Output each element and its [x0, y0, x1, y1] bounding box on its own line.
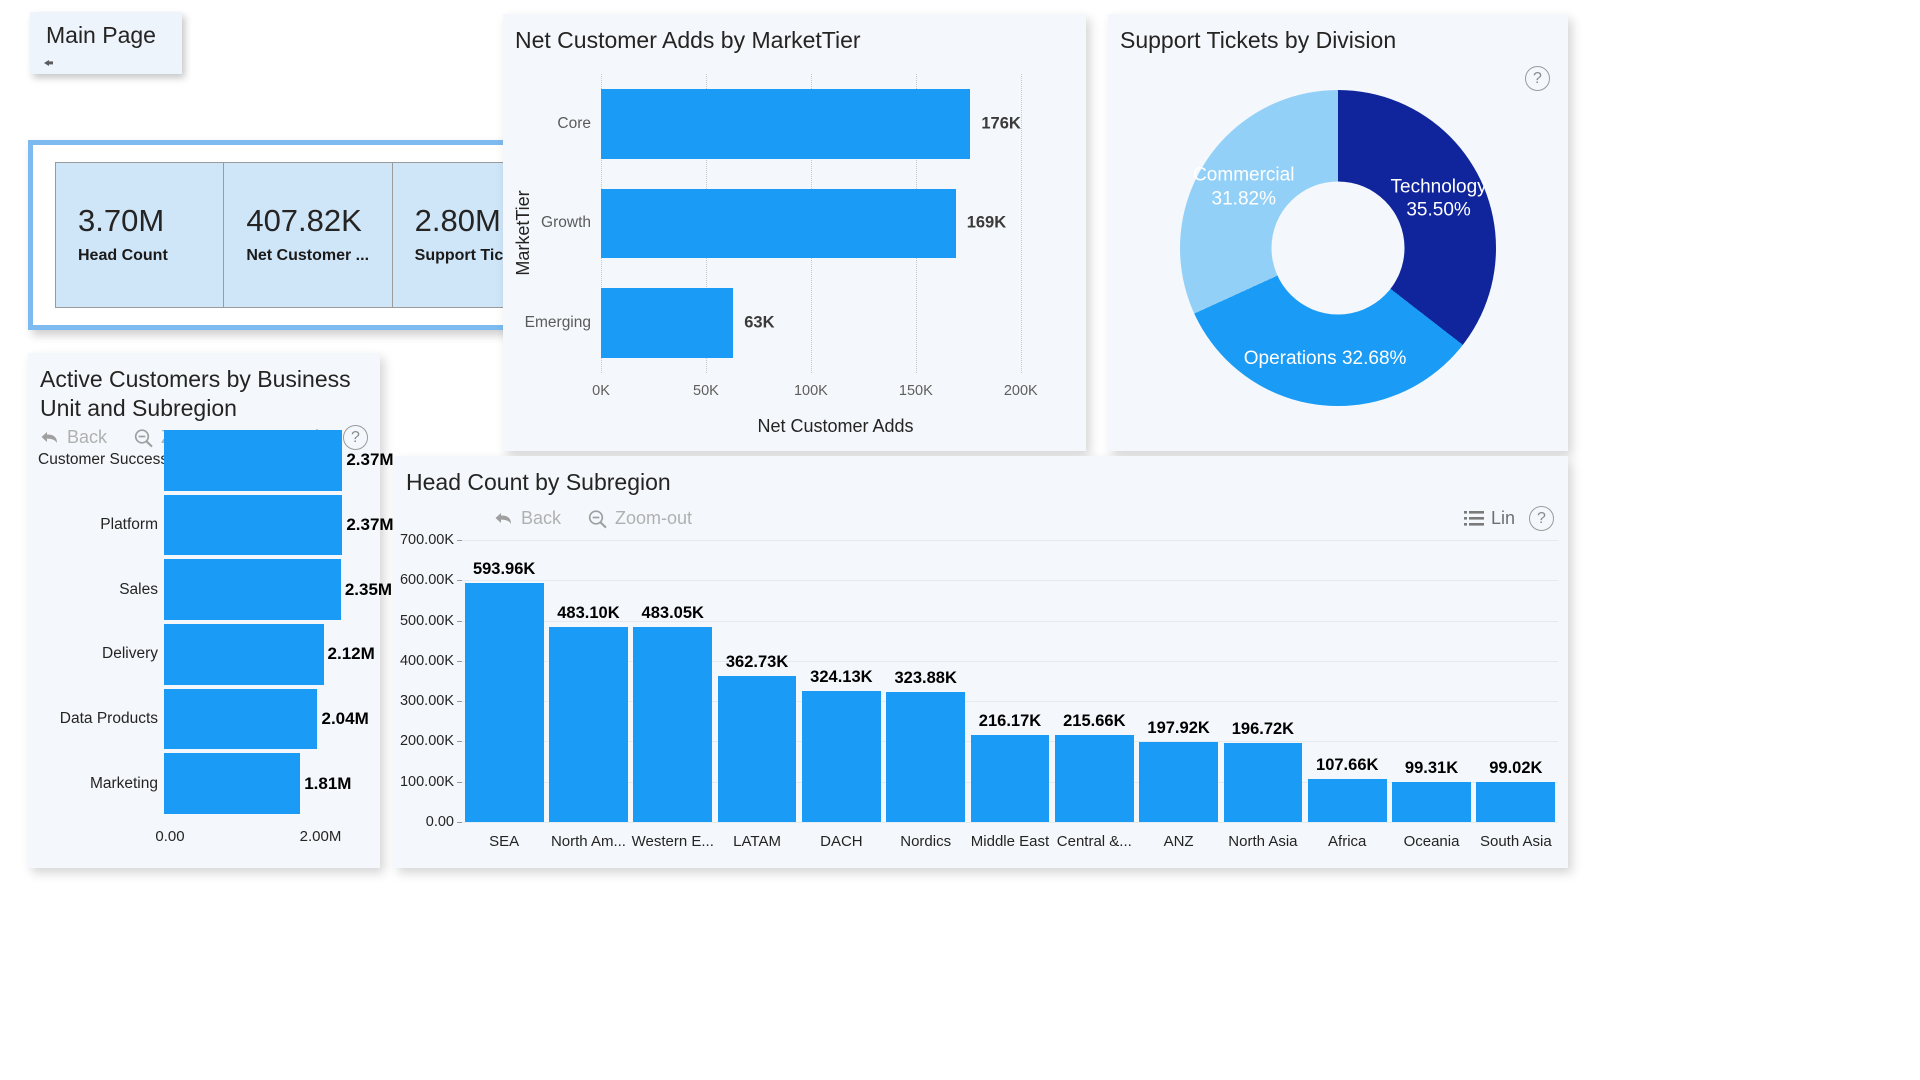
- bar-value-label: 169K: [967, 214, 1006, 233]
- bar-fill[interactable]: [1476, 782, 1555, 822]
- x-axis-category-label: Western E...: [632, 833, 714, 850]
- bar-column[interactable]: 323.88KNordics: [886, 540, 965, 822]
- y-axis-tick-label: 200.00K: [400, 733, 454, 749]
- zoom-out-button[interactable]: Zoom-out: [587, 508, 692, 529]
- help-circle-icon[interactable]: ?: [1529, 506, 1554, 531]
- y-axis-tick-mark: [457, 661, 462, 662]
- y-axis-tick-label: 600.00K: [400, 572, 454, 588]
- x-axis-tick-label: 0K: [592, 383, 610, 399]
- kpi-label: Head Count: [78, 247, 223, 265]
- drill-mode-button[interactable]: Lin: [1464, 508, 1515, 529]
- bar-track: 1.81M: [164, 751, 372, 816]
- y-axis-tick-label: 500.00K: [400, 613, 454, 629]
- y-axis-tick-mark: [457, 580, 462, 581]
- bar-column[interactable]: 483.10KNorth Am...: [549, 540, 628, 822]
- bar-category-label: Marketing: [38, 775, 164, 793]
- bar-value-label: 197.92K: [1147, 719, 1209, 738]
- adds-plot: Core176KGrowth169KEmerging63K: [601, 74, 1070, 373]
- kpi-value: 3.70M: [78, 205, 223, 238]
- bar-row[interactable]: Delivery2.12M: [38, 622, 372, 687]
- bar-category-label: Delivery: [38, 645, 164, 663]
- bar-value-label: 63K: [744, 314, 774, 333]
- bar-fill[interactable]: [164, 689, 317, 750]
- kpi-card-head-count[interactable]: 3.70M Head Count: [55, 162, 224, 308]
- x-axis-tick-label: 50K: [693, 383, 719, 399]
- slice-name: Commercial: [1193, 165, 1294, 186]
- bar-value-label: 99.02K: [1489, 759, 1542, 778]
- bar-column[interactable]: 362.73KLATAM: [718, 540, 797, 822]
- x-axis-category-label: Nordics: [900, 833, 951, 850]
- active-customers-plot: Customer Success2.37MPlatform2.37MSales2…: [38, 428, 372, 816]
- visual-active-customers[interactable]: Active Customers by Business Unit and Su…: [28, 353, 380, 868]
- kpi-label: Net Customer ...: [246, 247, 391, 265]
- adds-x-axis: 0K50K100K150K200K: [601, 383, 1070, 403]
- bar-column[interactable]: 215.66KCentral &...: [1055, 540, 1134, 822]
- bar-value-label: 196.72K: [1232, 720, 1294, 739]
- active-customers-x-axis: 0.002.00M: [38, 828, 372, 850]
- bar-fill[interactable]: [601, 89, 970, 159]
- visual-title: Net Customer Adds by MarketTier: [515, 26, 861, 55]
- bar-value-label: 483.10K: [557, 604, 619, 623]
- report-canvas: Main Page 3.70M Head Count 407.82K Net C…: [0, 0, 1920, 1080]
- bar-column[interactable]: 107.66KAfrica: [1308, 540, 1387, 822]
- donut-slice-label: Commercial31.82%: [1193, 164, 1294, 211]
- bar-category-label: Growth: [541, 214, 591, 232]
- visual-title: Active Customers by Business Unit and Su…: [40, 365, 380, 424]
- bar-category-label: Sales: [38, 581, 164, 599]
- zoom-out-label: Zoom-out: [615, 508, 692, 529]
- visual-support-tickets-donut[interactable]: Support Tickets by Division ? Technology…: [1108, 14, 1568, 451]
- bar-value-label: 99.31K: [1405, 759, 1458, 778]
- bar-fill[interactable]: [1224, 743, 1303, 822]
- visual-toolbar: Back Zoom-out Lin ?: [494, 506, 1554, 531]
- pin-icon: [44, 54, 54, 62]
- bar-value-label: 2.35M: [345, 580, 392, 600]
- adds-x-axis-title: Net Customer Adds: [601, 416, 1070, 437]
- bar-value-label: 593.96K: [473, 560, 535, 579]
- x-axis-category-label: South Asia: [1480, 833, 1552, 850]
- list-lines-icon: [1464, 510, 1484, 527]
- bar-fill[interactable]: [1392, 782, 1471, 822]
- bar-column[interactable]: 197.92KANZ: [1139, 540, 1218, 822]
- bar-track: 2.37M: [164, 428, 372, 493]
- y-axis-tick-mark: [457, 621, 462, 622]
- bar-row[interactable]: Marketing1.81M: [38, 751, 372, 816]
- x-axis-category-label: ANZ: [1164, 833, 1194, 850]
- bar-column[interactable]: 99.02KSouth Asia: [1476, 540, 1555, 822]
- bar-fill[interactable]: [1139, 742, 1218, 822]
- bar-value-label: 2.37M: [346, 515, 393, 535]
- bar-value-label: 107.66K: [1316, 756, 1378, 775]
- bar-fill[interactable]: [164, 753, 300, 814]
- y-axis-tick-mark: [457, 782, 462, 783]
- donut-area: Technology35.50%Operations 32.68%Commerc…: [1108, 50, 1568, 446]
- adds-y-axis-title: MarketTier: [513, 190, 537, 275]
- bar-value-label: 2.37M: [346, 450, 393, 470]
- bar-row[interactable]: Emerging63K: [601, 288, 1070, 358]
- y-axis-tick-label: 100.00K: [400, 774, 454, 790]
- x-axis-category-label: LATAM: [733, 833, 781, 850]
- bar-category-label: Data Products: [38, 710, 164, 728]
- bar-fill[interactable]: [164, 559, 341, 620]
- bar-category-label: Customer Success: [38, 451, 164, 469]
- x-axis-tick-label: 2.00M: [300, 828, 342, 845]
- x-axis-tick-label: 100K: [794, 383, 828, 399]
- magnifier-minus-icon: [587, 509, 608, 529]
- x-axis-category-label: North Asia: [1228, 833, 1297, 850]
- bar-category-label: Emerging: [525, 314, 591, 332]
- bar-fill[interactable]: [601, 288, 733, 358]
- donut-slice-label: Technology35.50%: [1391, 175, 1487, 222]
- bar-value-label: 323.88K: [894, 669, 956, 688]
- bar-value-label: 176K: [981, 114, 1020, 133]
- bar-fill[interactable]: [164, 624, 324, 685]
- bar-value-label: 324.13K: [810, 668, 872, 687]
- x-axis-category-label: Middle East: [971, 833, 1049, 850]
- slice-value: 35.50%: [1406, 200, 1470, 221]
- back-button[interactable]: Back: [494, 508, 561, 529]
- bar-track: 2.37M: [164, 493, 372, 558]
- x-axis-category-label: Central &...: [1057, 833, 1132, 850]
- bar-row[interactable]: Core176K: [601, 89, 1070, 159]
- bar-value-label: 362.73K: [726, 653, 788, 672]
- y-axis-tick-label: 300.00K: [400, 693, 454, 709]
- bar-value-label: 216.17K: [979, 712, 1041, 731]
- bar-row[interactable]: Sales2.35M: [38, 557, 372, 622]
- kpi-value: 407.82K: [246, 205, 391, 238]
- bar-row[interactable]: Growth169K: [601, 189, 1070, 259]
- bar-value-label: 483.05K: [642, 604, 704, 623]
- kpi-row: 3.70M Head Count 407.82K Net Customer ..…: [55, 162, 561, 308]
- x-axis-tick-label: 0.00: [155, 828, 184, 845]
- bar-fill[interactable]: [633, 627, 712, 822]
- bar-column[interactable]: 324.13KDACH: [802, 540, 881, 822]
- bar-fill[interactable]: [549, 627, 628, 822]
- bar-fill[interactable]: [971, 735, 1050, 822]
- y-axis-tick-label: 0.00: [426, 814, 454, 830]
- y-axis-tick-mark: [457, 822, 462, 823]
- x-axis-tick-label: 200K: [1004, 383, 1038, 399]
- page-tab-main-page[interactable]: Main Page: [30, 12, 182, 74]
- bar-track: 2.35M: [164, 557, 372, 622]
- bar-fill[interactable]: [1055, 735, 1134, 822]
- bar-row[interactable]: Platform2.37M: [38, 493, 372, 558]
- kpi-card-net-customer-adds[interactable]: 407.82K Net Customer ...: [224, 162, 392, 308]
- bar-category-label: Platform: [38, 516, 164, 534]
- visual-title: Head Count by Subregion: [406, 468, 671, 497]
- slice-value: 31.82%: [1212, 188, 1276, 209]
- bar-fill[interactable]: [601, 189, 956, 259]
- bar-value-label: 1.81M: [304, 774, 351, 794]
- x-axis-tick-label: 150K: [899, 383, 933, 399]
- bar-value-label: 2.12M: [328, 644, 375, 664]
- y-axis-tick-label: 700.00K: [400, 532, 454, 548]
- help-glyph: ?: [1537, 510, 1546, 528]
- bar-column[interactable]: 196.72KNorth Asia: [1224, 540, 1303, 822]
- head-count-plot: 0.00100.00K200.00K300.00K400.00K500.00K6…: [462, 540, 1558, 822]
- bar-fill[interactable]: [1308, 779, 1387, 822]
- bar-fill[interactable]: [802, 691, 881, 822]
- bar-fill[interactable]: [164, 430, 342, 491]
- page-tab-label: Main Page: [46, 22, 156, 49]
- bar-row[interactable]: Data Products2.04M: [38, 687, 372, 752]
- x-axis-category-label: SEA: [489, 833, 519, 850]
- y-axis-tick-label: 400.00K: [400, 653, 454, 669]
- bar-row[interactable]: Customer Success2.37M: [38, 428, 372, 493]
- x-axis-category-label: North Am...: [551, 833, 626, 850]
- bar-fill[interactable]: [465, 583, 544, 822]
- visual-head-count-subregion[interactable]: Head Count by Subregion Back Zoom-out: [394, 456, 1568, 868]
- back-label: Back: [521, 508, 561, 529]
- donut-slice-label: Operations 32.68%: [1244, 347, 1407, 371]
- x-axis-category-label: DACH: [820, 833, 863, 850]
- slice-name: Technology: [1391, 176, 1487, 197]
- bar-fill[interactable]: [164, 495, 342, 556]
- bar-column[interactable]: 216.17KMiddle East: [971, 540, 1050, 822]
- y-axis-tick-mark: [457, 741, 462, 742]
- x-axis-category-label: Africa: [1328, 833, 1366, 850]
- bar-column[interactable]: 593.96KSEA: [465, 540, 544, 822]
- bar-column[interactable]: 483.05KWestern E...: [633, 540, 712, 822]
- bar-track: 2.04M: [164, 687, 372, 752]
- x-axis-category-label: Oceania: [1404, 833, 1460, 850]
- y-axis-tick-mark: [457, 540, 462, 541]
- gridline: [462, 822, 1558, 823]
- visual-net-customer-adds[interactable]: Net Customer Adds by MarketTier MarketTi…: [503, 14, 1086, 451]
- bar-fill[interactable]: [718, 676, 797, 822]
- bar-category-label: Core: [557, 115, 591, 133]
- slice-name: Operations 32.68%: [1244, 348, 1407, 369]
- bar-column[interactable]: 99.31KOceania: [1392, 540, 1471, 822]
- bar-fill[interactable]: [886, 692, 965, 822]
- bar-value-label: 215.66K: [1063, 712, 1125, 731]
- back-arrow-icon: [494, 510, 514, 528]
- bar-track: 2.12M: [164, 622, 372, 687]
- bar-value-label: 2.04M: [321, 709, 368, 729]
- y-axis-tick-mark: [457, 701, 462, 702]
- drill-mode-label: Lin: [1491, 508, 1515, 529]
